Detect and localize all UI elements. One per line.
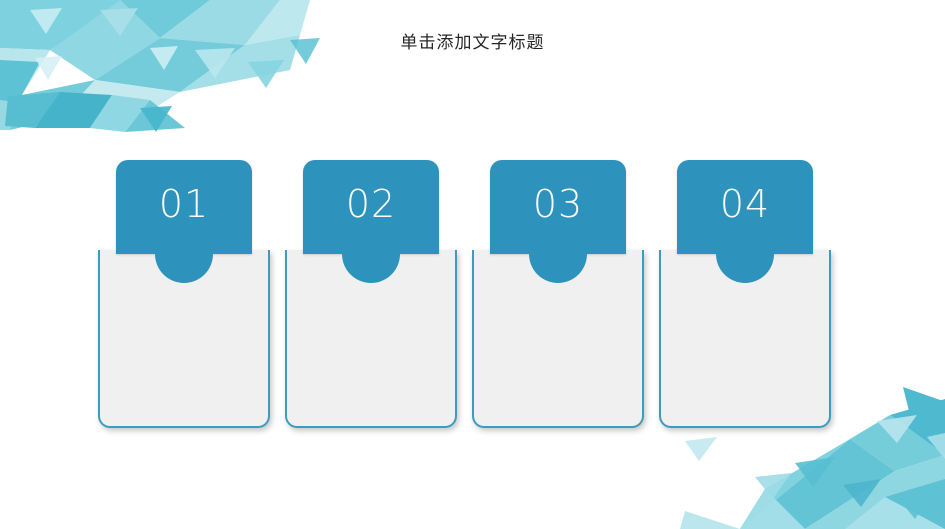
card-number-block: 01	[116, 160, 252, 254]
card-03[interactable]: 03 添加标题 形成思路风格 仔细考量细节 把每一步做好	[472, 160, 644, 428]
card-number: 01	[116, 182, 252, 226]
card-02[interactable]: 02 添加标题 辅助软件可以 为幻灯片提供 很好的辅助等 有必要去学习	[285, 160, 457, 428]
cards-row: 01 添加标题 完成模高和 图高的作业 争取尽快做 好不能再拖 02 添加标题 …	[98, 160, 858, 428]
top-left-polygon-decoration	[0, 0, 330, 150]
card-number-block: 03	[490, 160, 626, 254]
card-number: 03	[490, 182, 626, 226]
page-title: 单击添加文字标题	[0, 28, 945, 53]
slide-canvas: 单击添加文字标题 01 添加标题 完成模高和 图高的作业 争取尽快做 好不能再拖…	[0, 0, 945, 529]
card-number-block: 02	[303, 160, 439, 254]
card-number: 04	[677, 182, 813, 226]
card-number-block: 04	[677, 160, 813, 254]
card-04[interactable]: 04 添加标题 这是并列关系 的表达方式之 你可以输入其 他的内容代替	[659, 160, 831, 428]
card-01[interactable]: 01 添加标题 完成模高和 图高的作业 争取尽快做 好不能再拖	[98, 160, 270, 428]
card-number: 02	[303, 182, 439, 226]
